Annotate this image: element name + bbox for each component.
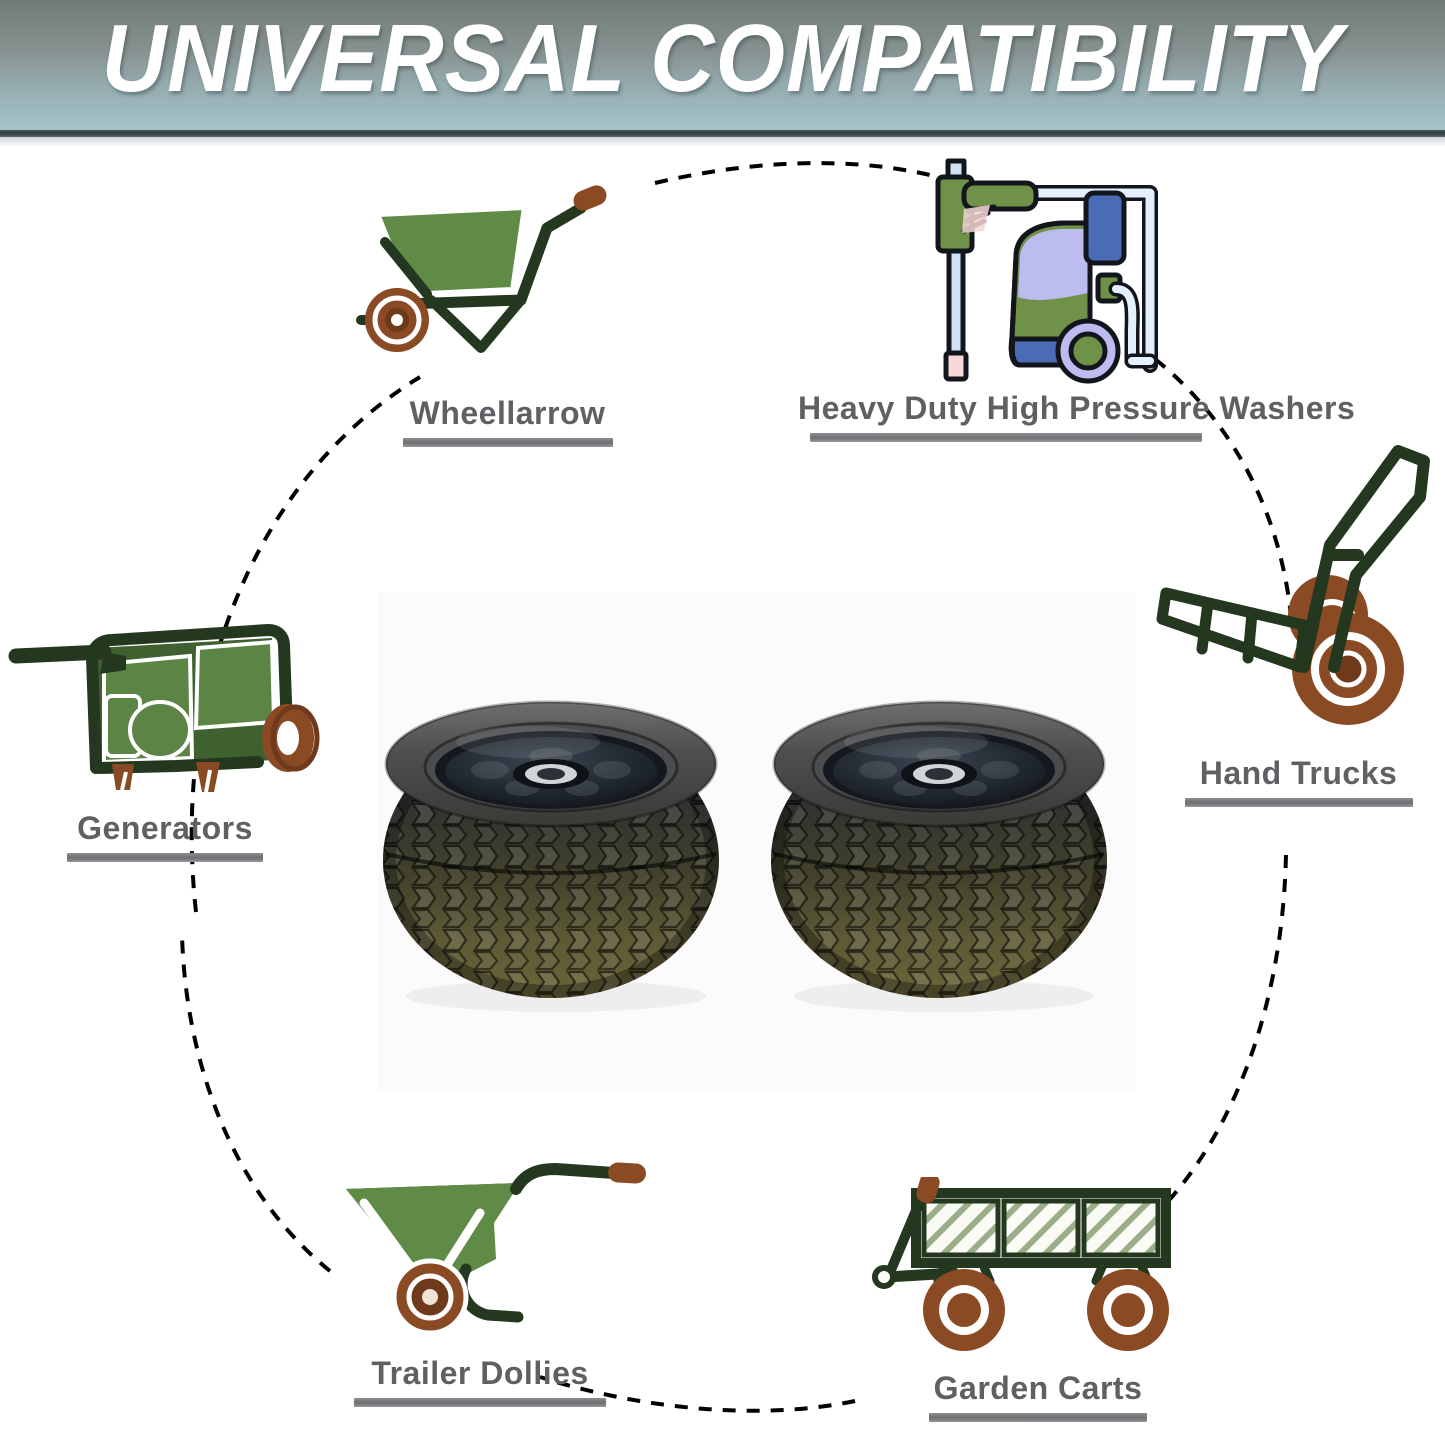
- hand-truck-icon: [1152, 427, 1445, 757]
- node-label-garden-carts: Garden Carts: [838, 1372, 1238, 1406]
- generator-icon: [0, 612, 330, 812]
- trailer-dolly-icon: [280, 1157, 680, 1357]
- node-trailer-dollies[interactable]: Trailer Dollies: [280, 1157, 680, 1407]
- wheelbarrow-icon: [335, 172, 680, 397]
- node-underline-generators: [67, 853, 263, 862]
- pressure-washer-icon: [798, 147, 1213, 392]
- garden-cart-icon: [838, 1177, 1238, 1372]
- header-divider: [0, 130, 1445, 137]
- tire-pair-image: [378, 592, 1135, 1092]
- node-garden-carts[interactable]: Garden Carts: [838, 1177, 1238, 1422]
- node-label-trailer-dollies: Trailer Dollies: [280, 1357, 680, 1391]
- node-label-hand-truck: Hand Trucks: [1152, 757, 1445, 791]
- header-banner: UNIVERSAL COMPATIBILITY: [0, 0, 1445, 132]
- node-underline-pressure-washer: [810, 433, 1202, 442]
- node-underline-hand-truck: [1185, 798, 1413, 807]
- node-underline-garden-carts: [929, 1413, 1147, 1422]
- node-label-wheelbarrow: Wheellarrow: [335, 397, 680, 431]
- node-wheelbarrow[interactable]: Wheellarrow: [335, 172, 680, 447]
- page-title: UNIVERSAL COMPATIBILITY: [51, 0, 1395, 118]
- node-underline-trailer-dollies: [354, 1398, 606, 1407]
- node-pressure-washer[interactable]: Heavy Duty High Pressure Washers: [798, 147, 1213, 442]
- product-image-panel: [378, 592, 1135, 1092]
- compatibility-diagram: Wheellarrow: [0, 137, 1445, 1445]
- node-hand-truck[interactable]: Hand Trucks: [1152, 427, 1445, 807]
- node-generators[interactable]: Generators: [0, 612, 330, 862]
- node-label-pressure-washer: Heavy Duty High Pressure Washers: [798, 392, 1213, 426]
- node-label-generators: Generators: [0, 812, 330, 846]
- node-underline-wheelbarrow: [403, 438, 613, 447]
